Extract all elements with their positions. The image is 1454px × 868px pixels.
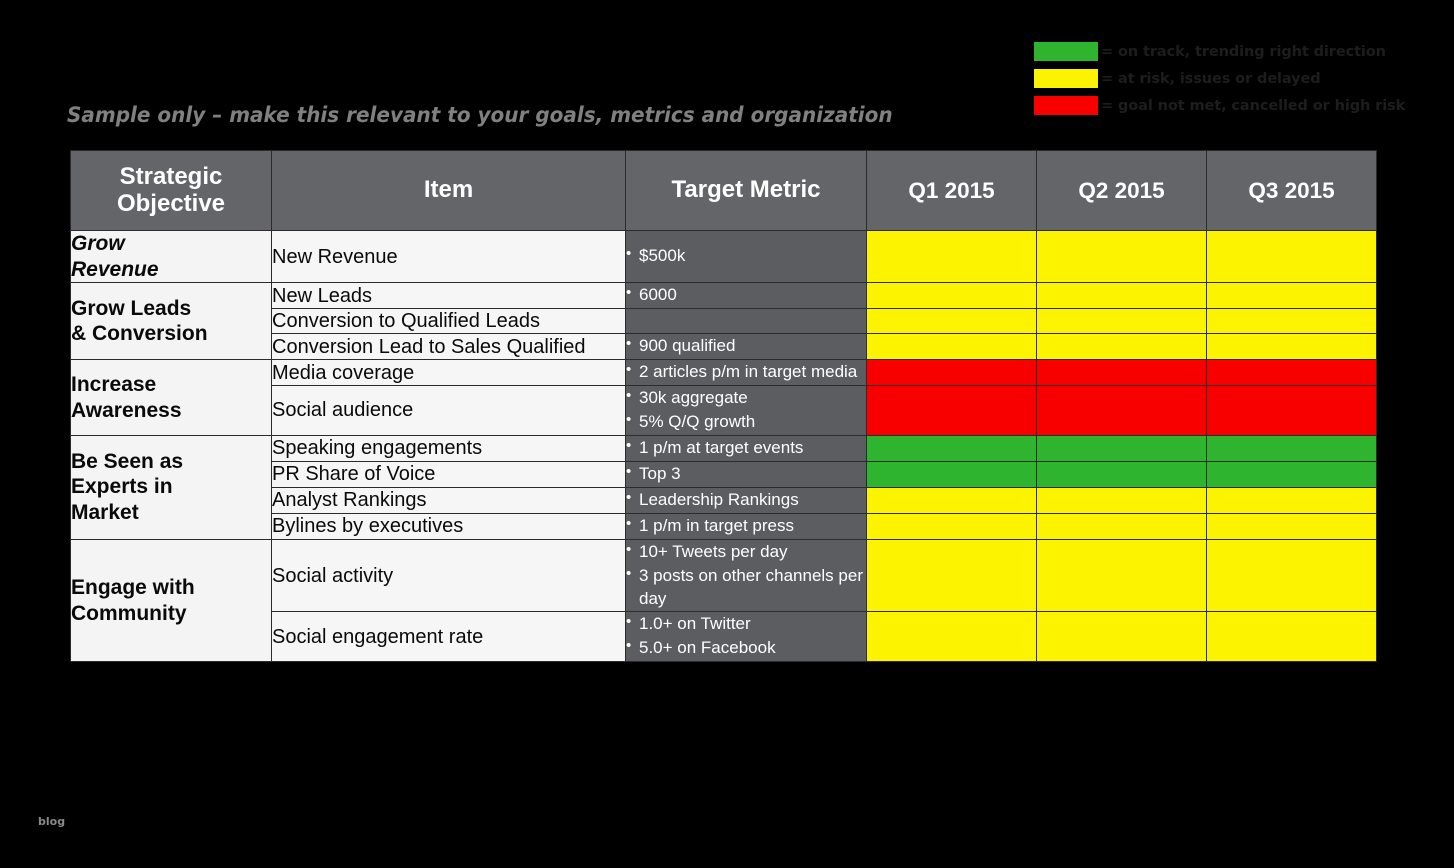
status-cell-q3[interactable] xyxy=(1207,231,1377,283)
metric-bullet: $500k xyxy=(626,245,866,268)
target-metric-cell: 1 p/m in target press xyxy=(626,513,867,539)
table-body: GrowRevenueNew Revenue$500kGrow Leads& C… xyxy=(71,231,1377,662)
status-cell-q3[interactable] xyxy=(1207,461,1377,487)
metric-list: 1 p/m at target events xyxy=(626,437,866,460)
status-legend: = on track, trending right direction= at… xyxy=(1033,40,1393,121)
metric-bullet: 6000 xyxy=(626,284,866,307)
blog-watermark: blog xyxy=(38,815,65,828)
item-cell: PR Share of Voice xyxy=(272,461,626,487)
legend-label: = goal not met, cancelled or high risk xyxy=(1101,98,1405,114)
metric-list: $500k xyxy=(626,245,866,268)
objective-cell: GrowRevenue xyxy=(71,231,272,283)
metric-list: 30k aggregate5% Q/Q growth xyxy=(626,387,866,434)
status-cell-q1[interactable] xyxy=(867,513,1037,539)
table-row: Be Seen asExperts inMarketSpeaking engag… xyxy=(71,435,1377,461)
target-metric-cell: 900 qualified xyxy=(626,334,867,360)
status-cell-q1[interactable] xyxy=(867,360,1037,386)
objective-line: Engage with xyxy=(71,576,195,599)
status-cell-q3[interactable] xyxy=(1207,612,1377,662)
item-cell: Analyst Rankings xyxy=(272,487,626,513)
item-cell: Conversion to Qualified Leads xyxy=(272,309,626,334)
status-cell-q3[interactable] xyxy=(1207,334,1377,360)
legend-label: = on track, trending right direction xyxy=(1101,44,1386,60)
item-cell: Media coverage xyxy=(272,360,626,386)
column-header-objective: Strategic Objective xyxy=(71,151,272,231)
status-cell-q2[interactable] xyxy=(1037,513,1207,539)
objective-cell: IncreaseAwareness xyxy=(71,360,272,436)
status-cell-q1[interactable] xyxy=(867,231,1037,283)
table-header: Strategic Objective Item Target Metric Q… xyxy=(71,151,1377,231)
status-cell-q2[interactable] xyxy=(1037,487,1207,513)
status-cell-q1[interactable] xyxy=(867,612,1037,662)
objective-line: Experts in xyxy=(71,475,173,498)
red-swatch xyxy=(1033,95,1099,116)
status-cell-q3[interactable] xyxy=(1207,386,1377,436)
column-header-item: Item xyxy=(272,151,626,231)
metric-bullet: 5% Q/Q growth xyxy=(626,411,866,434)
metric-bullet: 30k aggregate xyxy=(626,387,866,410)
target-metric-cell: 6000 xyxy=(626,283,867,309)
header-line-2: Objective xyxy=(117,190,225,217)
objective-cell: Be Seen asExperts inMarket xyxy=(71,435,272,539)
status-cell-q1[interactable] xyxy=(867,461,1037,487)
metric-list: 1 p/m in target press xyxy=(626,515,866,538)
target-metric-cell: 10+ Tweets per day3 posts on other chann… xyxy=(626,539,867,612)
slide-subtitle: Sample only – make this relevant to your… xyxy=(67,103,893,128)
status-cell-q3[interactable] xyxy=(1207,435,1377,461)
status-cell-q2[interactable] xyxy=(1037,539,1207,612)
target-metric-cell: 30k aggregate5% Q/Q growth xyxy=(626,386,867,436)
status-cell-q2[interactable] xyxy=(1037,283,1207,309)
metric-bullet: 3 posts on other channels per day xyxy=(626,565,866,611)
table-row: GrowRevenueNew Revenue$500k xyxy=(71,231,1377,283)
objective-cell: Grow Leads& Conversion xyxy=(71,283,272,360)
target-metric-cell: $500k xyxy=(626,231,867,283)
yellow-swatch xyxy=(1033,68,1099,89)
status-cell-q2[interactable] xyxy=(1037,461,1207,487)
green-swatch xyxy=(1033,41,1099,62)
item-cell: Social activity xyxy=(272,539,626,612)
metric-list: 2 articles p/m in target media xyxy=(626,361,866,384)
metric-list: Leadership Rankings xyxy=(626,489,866,512)
metric-bullet: 1.0+ on Twitter xyxy=(626,613,866,636)
metric-bullet: 900 qualified xyxy=(626,335,866,358)
metric-list: 1.0+ on Twitter5.0+ on Facebook xyxy=(626,613,866,660)
item-cell: Conversion Lead to Sales Qualified xyxy=(272,334,626,360)
item-cell: New Revenue xyxy=(272,231,626,283)
status-cell-q3[interactable] xyxy=(1207,513,1377,539)
status-cell-q3[interactable] xyxy=(1207,283,1377,309)
metric-bullet: 1 p/m at target events xyxy=(626,437,866,460)
objective-line: Grow xyxy=(71,232,125,255)
metric-list: 10+ Tweets per day3 posts on other chann… xyxy=(626,541,866,611)
target-metric-cell: 1.0+ on Twitter5.0+ on Facebook xyxy=(626,612,867,662)
objective-line: Be Seen as xyxy=(71,450,183,473)
metric-bullet: Top 3 xyxy=(626,463,866,486)
column-header-target-metric: Target Metric xyxy=(626,151,867,231)
status-cell-q2[interactable] xyxy=(1037,334,1207,360)
status-cell-q2[interactable] xyxy=(1037,612,1207,662)
column-header-q3: Q3 2015 xyxy=(1207,151,1377,231)
status-cell-q1[interactable] xyxy=(867,435,1037,461)
target-metric-cell: Top 3 xyxy=(626,461,867,487)
item-cell: Social audience xyxy=(272,386,626,436)
status-cell-q2[interactable] xyxy=(1037,360,1207,386)
scorecard-table: Strategic Objective Item Target Metric Q… xyxy=(70,150,1377,662)
status-cell-q3[interactable] xyxy=(1207,539,1377,612)
item-cell: Bylines by executives xyxy=(272,513,626,539)
item-cell: Speaking engagements xyxy=(272,435,626,461)
status-cell-q2[interactable] xyxy=(1037,435,1207,461)
table-row: IncreaseAwarenessMedia coverage2 article… xyxy=(71,360,1377,386)
target-metric-cell: Leadership Rankings xyxy=(626,487,867,513)
status-cell-q1[interactable] xyxy=(867,283,1037,309)
item-cell: New Leads xyxy=(272,283,626,309)
legend-item: = goal not met, cancelled or high risk xyxy=(1033,94,1393,117)
status-cell-q2[interactable] xyxy=(1037,231,1207,283)
status-cell-q1[interactable] xyxy=(867,386,1037,436)
metric-list: 6000 xyxy=(626,284,866,307)
objective-line: Market xyxy=(71,501,139,524)
target-metric-cell: 1 p/m at target events xyxy=(626,435,867,461)
status-cell-q1[interactable] xyxy=(867,539,1037,612)
objective-line: & Conversion xyxy=(71,322,208,345)
target-metric-cell xyxy=(626,309,867,334)
metric-bullet: 5.0+ on Facebook xyxy=(626,637,866,660)
objective-line: Grow Leads xyxy=(71,297,191,320)
column-header-q2: Q2 2015 xyxy=(1037,151,1207,231)
status-cell-q1[interactable] xyxy=(867,487,1037,513)
status-cell-q1[interactable] xyxy=(867,334,1037,360)
metric-list: 900 qualified xyxy=(626,335,866,358)
status-cell-q3[interactable] xyxy=(1207,487,1377,513)
legend-item: = at risk, issues or delayed xyxy=(1033,67,1393,90)
table-row: Engage withCommunitySocial activity10+ T… xyxy=(71,539,1377,612)
metric-bullet: Leadership Rankings xyxy=(626,489,866,512)
status-cell-q2[interactable] xyxy=(1037,386,1207,436)
objective-cell: Engage withCommunity xyxy=(71,539,272,662)
metric-list: Top 3 xyxy=(626,463,866,486)
header-line-1: Strategic xyxy=(120,163,223,190)
objective-line: Community xyxy=(71,602,187,625)
slide-canvas: = on track, trending right direction= at… xyxy=(0,0,1454,868)
metric-bullet: 1 p/m in target press xyxy=(626,515,866,538)
status-cell-q3[interactable] xyxy=(1207,360,1377,386)
column-header-q1: Q1 2015 xyxy=(867,151,1037,231)
objective-line: Awareness xyxy=(71,399,182,422)
target-metric-cell: 2 articles p/m in target media xyxy=(626,360,867,386)
objective-line: Revenue xyxy=(71,258,159,281)
legend-label: = at risk, issues or delayed xyxy=(1101,71,1321,87)
metric-bullet: 10+ Tweets per day xyxy=(626,541,866,564)
legend-item: = on track, trending right direction xyxy=(1033,40,1393,63)
metric-bullet: 2 articles p/m in target media xyxy=(626,361,866,384)
item-cell: Social engagement rate xyxy=(272,612,626,662)
header-row: Strategic Objective Item Target Metric Q… xyxy=(71,151,1377,231)
status-cell-q2[interactable] xyxy=(1037,309,1207,334)
table-row: Grow Leads& ConversionNew Leads6000 xyxy=(71,283,1377,309)
status-cell-q3[interactable] xyxy=(1207,309,1377,334)
status-cell-q1[interactable] xyxy=(867,309,1037,334)
objective-line: Increase xyxy=(71,373,156,396)
